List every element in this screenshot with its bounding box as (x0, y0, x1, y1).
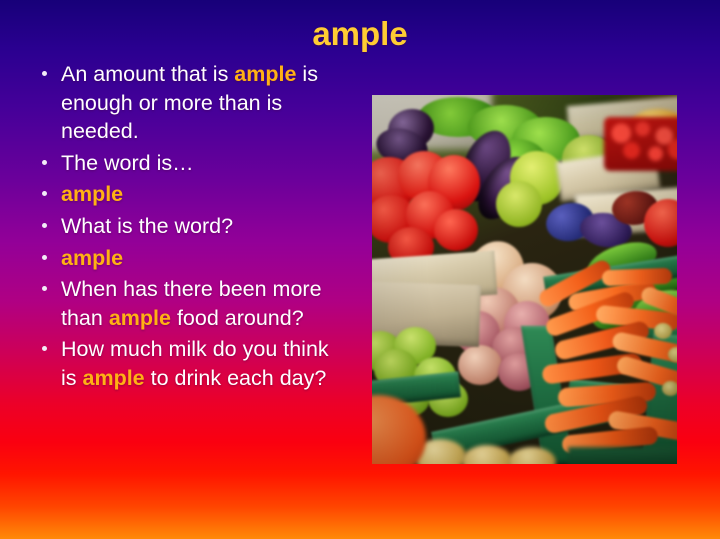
slide-canvas: ample An amount that is ample is enough … (0, 0, 720, 539)
bullet-dot-icon (42, 160, 47, 165)
list-item-text: An amount that is ample is enough or mor… (61, 62, 318, 143)
highlight-word: ample (83, 366, 145, 390)
list-item: An amount that is ample is enough or mor… (30, 60, 350, 146)
list-item: How much milk do you think is ample to d… (30, 335, 350, 392)
bullet-dot-icon (42, 255, 47, 260)
list-item-text: When has there been more than ample food… (61, 277, 322, 330)
page-title: ample (0, 16, 720, 52)
list-item: What is the word? (30, 212, 350, 241)
bullet-dot-icon (42, 223, 47, 228)
bullet-dot-icon (42, 286, 47, 291)
photo-vignette (372, 95, 677, 464)
bullet-dot-icon (42, 71, 47, 76)
bullet-dot-icon (42, 191, 47, 196)
bullet-list: An amount that is ample is enough or mor… (30, 60, 350, 396)
list-item: When has there been more than ample food… (30, 275, 350, 332)
highlight-word: ample (109, 306, 171, 330)
list-item-text: What is the word? (61, 214, 233, 238)
list-item-text: How much milk do you think is ample to d… (61, 337, 329, 390)
photo-content (372, 95, 677, 464)
highlight-word: ample (234, 62, 296, 86)
bullet-dot-icon (42, 346, 47, 351)
list-item-text: ample (61, 246, 123, 270)
list-item-text: ample (61, 182, 123, 206)
list-item: ample (30, 244, 350, 273)
list-item: The word is… (30, 149, 350, 178)
list-item: ample (30, 180, 350, 209)
list-item-text: The word is… (61, 151, 194, 175)
vegetable-market-photo (372, 95, 677, 464)
